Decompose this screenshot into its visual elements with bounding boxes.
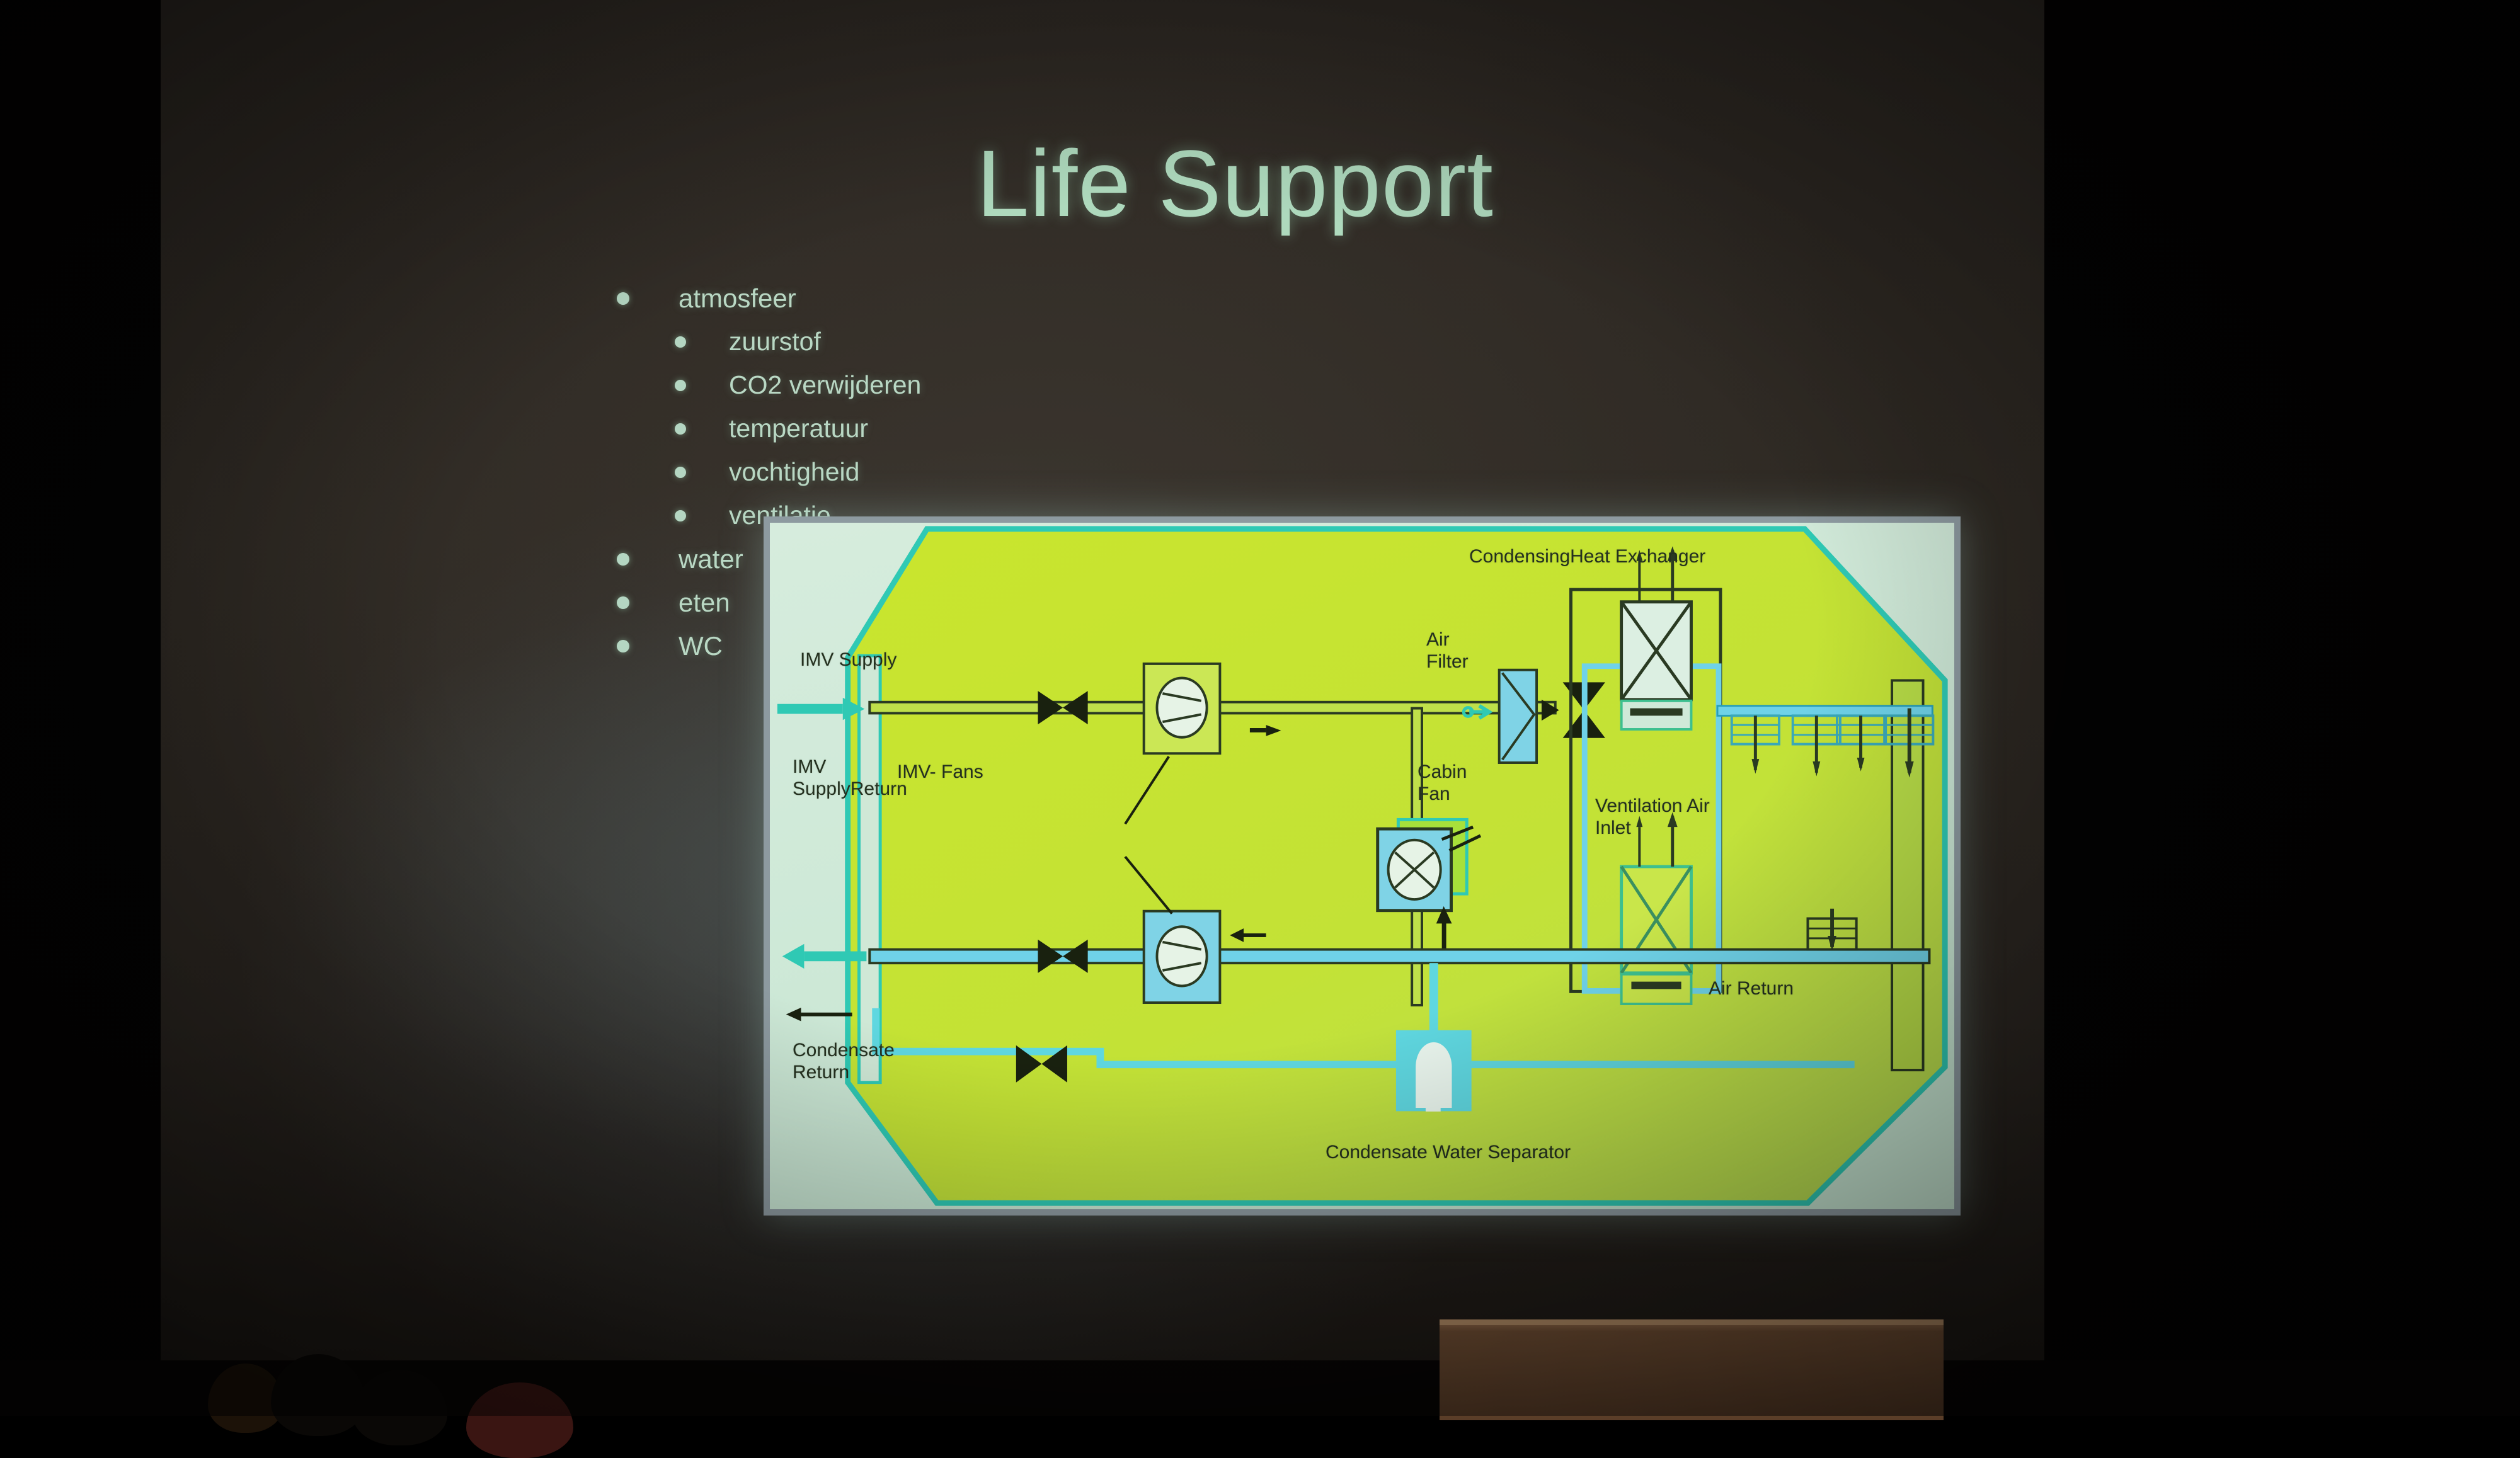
- page-title: Life Support: [976, 129, 1732, 238]
- bullet-dot-icon: [617, 553, 629, 566]
- bullet-dot-icon: [675, 467, 686, 478]
- imv-return-duct: [869, 950, 1929, 964]
- imv-return-fan: [1144, 911, 1220, 1003]
- schematic-svg: [770, 523, 1954, 1209]
- water-separator-unit: [1397, 1031, 1470, 1112]
- lectern: [1440, 1319, 1944, 1420]
- list-item-label: CO2 verwijderen: [729, 370, 921, 400]
- imv-fans-label: IMV- Fans: [897, 761, 983, 783]
- bullet-dot-icon: [675, 510, 686, 521]
- list-item: CO2 verwijderen: [602, 370, 1169, 400]
- life-support-schematic-image: IMV Supply IMV SupplyReturn Condensate R…: [764, 516, 1961, 1216]
- condensate-water-separator-label: Condensate Water Separator: [1326, 1141, 1571, 1163]
- bullet-dot-icon: [675, 423, 686, 435]
- list-item-label: zuurstof: [729, 327, 821, 356]
- bullet-dot-icon: [675, 380, 686, 391]
- list-item-label: temperatuur: [729, 414, 868, 443]
- separator-riser: [1429, 963, 1438, 1032]
- ventilation-supply-header: [1717, 706, 1932, 716]
- bullet-dot-icon: [617, 292, 629, 305]
- air-filter-label: Air Filter: [1426, 629, 1469, 673]
- list-item-label: WC: [679, 631, 723, 661]
- list-item: zuurstof: [602, 327, 1169, 356]
- condensing-heat-exchanger-label: CondensingHeat Exchanger: [1469, 545, 1705, 567]
- air-filter-element: [1499, 670, 1537, 763]
- imv-supply-label: IMV Supply: [800, 649, 896, 671]
- bullet-dot-icon: [617, 640, 629, 652]
- bullet-dot-icon: [675, 336, 686, 348]
- imv-supply-return-label: IMV SupplyReturn: [793, 756, 907, 800]
- list-item-label: water: [679, 544, 743, 574]
- lecture-room-photo: Life Support atmosfeer zuurstof CO2 verw…: [0, 0, 2520, 1416]
- air-return-label: Air Return: [1709, 977, 1794, 1000]
- room-left-dark: [0, 0, 161, 1416]
- condensate-return-label: Condensate Return: [793, 1039, 895, 1084]
- imv-supply-fan: [1144, 664, 1220, 753]
- list-item-label: atmosfeer: [679, 283, 796, 314]
- list-item: vochtigheid: [602, 457, 1169, 487]
- list-item-label: eten: [679, 588, 730, 618]
- cabin-fan-label: Cabin Fan: [1417, 761, 1467, 806]
- room-right-dark: [2044, 0, 2520, 1416]
- ventilation-air-inlet-label: Ventilation Air Inlet: [1595, 795, 1710, 840]
- list-item: atmosfeer: [602, 283, 1169, 314]
- bullet-dot-icon: [617, 596, 629, 609]
- presentation-slide: Life Support atmosfeer zuurstof CO2 verw…: [161, 0, 2044, 1360]
- list-item: temperatuur: [602, 414, 1169, 443]
- list-item-label: vochtigheid: [729, 457, 859, 487]
